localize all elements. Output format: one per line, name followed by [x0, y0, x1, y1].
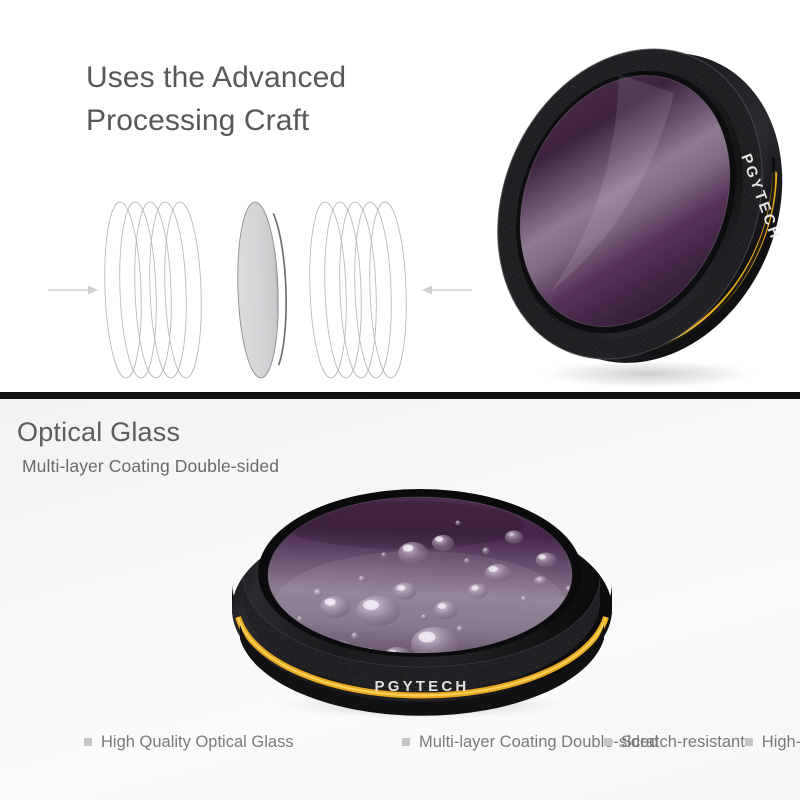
bullet-icon	[745, 738, 753, 746]
coating-layers-diagram	[40, 190, 480, 390]
arrow-right-icon	[48, 286, 98, 295]
coating-group-right	[307, 201, 409, 378]
water-droplet	[455, 520, 460, 525]
water-droplet	[482, 547, 489, 554]
product-photo-filter-with-droplets: PGYTECH	[214, 459, 634, 719]
feature-label: High-definition	[762, 733, 800, 752]
feature-label: Scratch-resistant	[621, 733, 745, 752]
water-droplet	[314, 589, 323, 598]
feature-list: High Quality Optical Glass Multi-layer C…	[84, 727, 784, 757]
drop-shadow	[530, 359, 766, 389]
water-droplet	[432, 535, 454, 551]
water-droplet	[398, 542, 428, 564]
section-divider	[0, 392, 800, 399]
section-title: Optical Glass	[17, 417, 180, 448]
water-droplet	[468, 584, 488, 599]
bullet-icon	[604, 738, 612, 746]
brand-label: PGYTECH	[375, 678, 470, 695]
list-item: High-definition	[745, 733, 800, 752]
water-droplet	[320, 596, 350, 618]
optical-glass-substrate	[235, 201, 289, 378]
product-marketing-image: Uses the Advanced Processing Craft	[0, 0, 800, 800]
water-droplet	[534, 576, 548, 586]
water-droplet	[351, 632, 359, 640]
headline-line-1: Uses the Advanced	[86, 61, 346, 94]
bullet-icon	[84, 738, 92, 746]
water-droplet	[381, 552, 387, 558]
feature-label: High Quality Optical Glass	[101, 733, 294, 752]
list-item: Multi-layer Coating Double-sided	[402, 733, 604, 752]
water-droplet	[536, 553, 557, 568]
water-droplet	[485, 564, 511, 582]
water-droplet	[393, 583, 417, 600]
headline: Uses the Advanced Processing Craft	[86, 57, 466, 142]
list-item: High Quality Optical Glass	[84, 733, 402, 752]
list-item: Scratch-resistant	[604, 733, 745, 752]
water-droplet	[505, 531, 523, 544]
arrow-left-icon	[422, 286, 472, 295]
water-droplet	[457, 626, 464, 633]
water-droplet	[356, 596, 400, 626]
water-droplet	[297, 616, 303, 622]
water-droplet	[421, 614, 427, 620]
bullet-icon	[402, 738, 410, 746]
product-photo-angled-filter: PGYTECH	[498, 8, 798, 390]
water-droplet	[464, 558, 470, 564]
top-panel-advanced-processing: Uses the Advanced Processing Craft	[0, 0, 800, 395]
water-droplet	[359, 576, 366, 583]
water-droplet	[521, 596, 527, 602]
coating-group-left	[102, 201, 204, 378]
headline-line-2: Processing Craft	[86, 100, 466, 143]
water-droplet	[434, 601, 458, 619]
